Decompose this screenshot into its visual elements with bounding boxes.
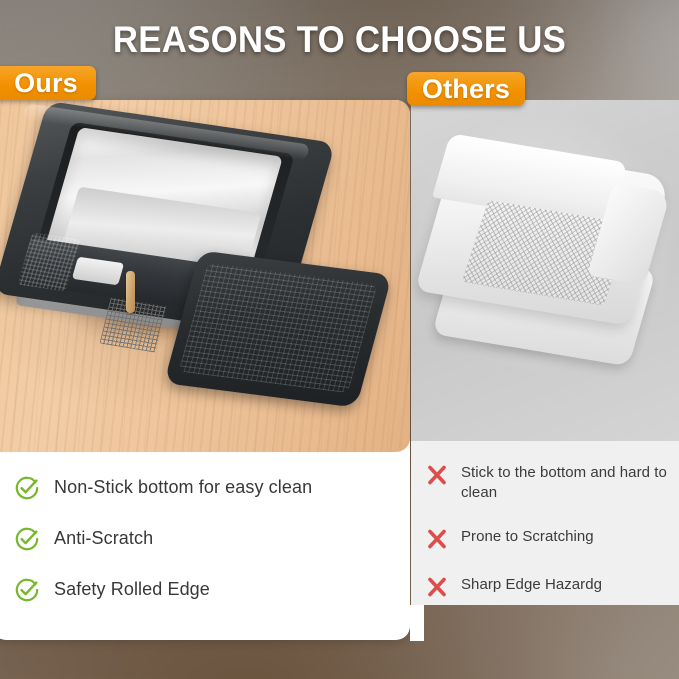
ours-product-photo [0, 100, 410, 452]
others-drawback-list: Stick to the bottom and hard to clean Pr… [411, 441, 679, 599]
list-item-label: Stick to the bottom and hard to clean [461, 463, 673, 503]
infographic-stage: REASONS TO CHOOSE US [0, 0, 679, 679]
left-card-bottom-filler [410, 605, 424, 641]
cross-icon [425, 575, 449, 599]
scoop-wooden-handle [126, 271, 135, 313]
list-item-label: Anti-Scratch [54, 527, 153, 550]
white-plastic-litter-box-illustration [423, 136, 675, 396]
list-item: Safety Rolled Edge [14, 578, 410, 603]
list-item-label: Safety Rolled Edge [54, 578, 210, 601]
list-item-label: Prone to Scratching [461, 527, 594, 547]
others-panel: Stick to the bottom and hard to clean Pr… [411, 100, 679, 605]
cross-icon [425, 463, 449, 487]
list-item: Stick to the bottom and hard to clean [425, 463, 673, 503]
check-circle-icon [14, 475, 40, 501]
mat-perforation-grid [179, 263, 378, 393]
check-circle-icon [14, 526, 40, 552]
page-title: REASONS TO CHOOSE US [20, 19, 658, 61]
ours-panel: Non-Stick bottom for easy clean Anti-Scr… [0, 100, 410, 640]
ours-badge: Ours [0, 66, 96, 100]
list-item: Sharp Edge Hazardg [425, 575, 673, 599]
cross-icon [425, 527, 449, 551]
check-circle-icon [14, 577, 40, 603]
list-item-label: Non-Stick bottom for easy clean [54, 476, 312, 499]
list-item: Non-Stick bottom for easy clean [14, 476, 410, 501]
list-item: Anti-Scratch [14, 527, 410, 552]
ours-feature-list: Non-Stick bottom for easy clean Anti-Scr… [0, 452, 410, 603]
others-badge: Others [407, 72, 525, 106]
stainless-litter-box-illustration [0, 108, 400, 438]
list-item-label: Sharp Edge Hazardg [461, 575, 602, 595]
list-item: Prone to Scratching [425, 527, 673, 551]
others-product-photo [411, 100, 679, 441]
